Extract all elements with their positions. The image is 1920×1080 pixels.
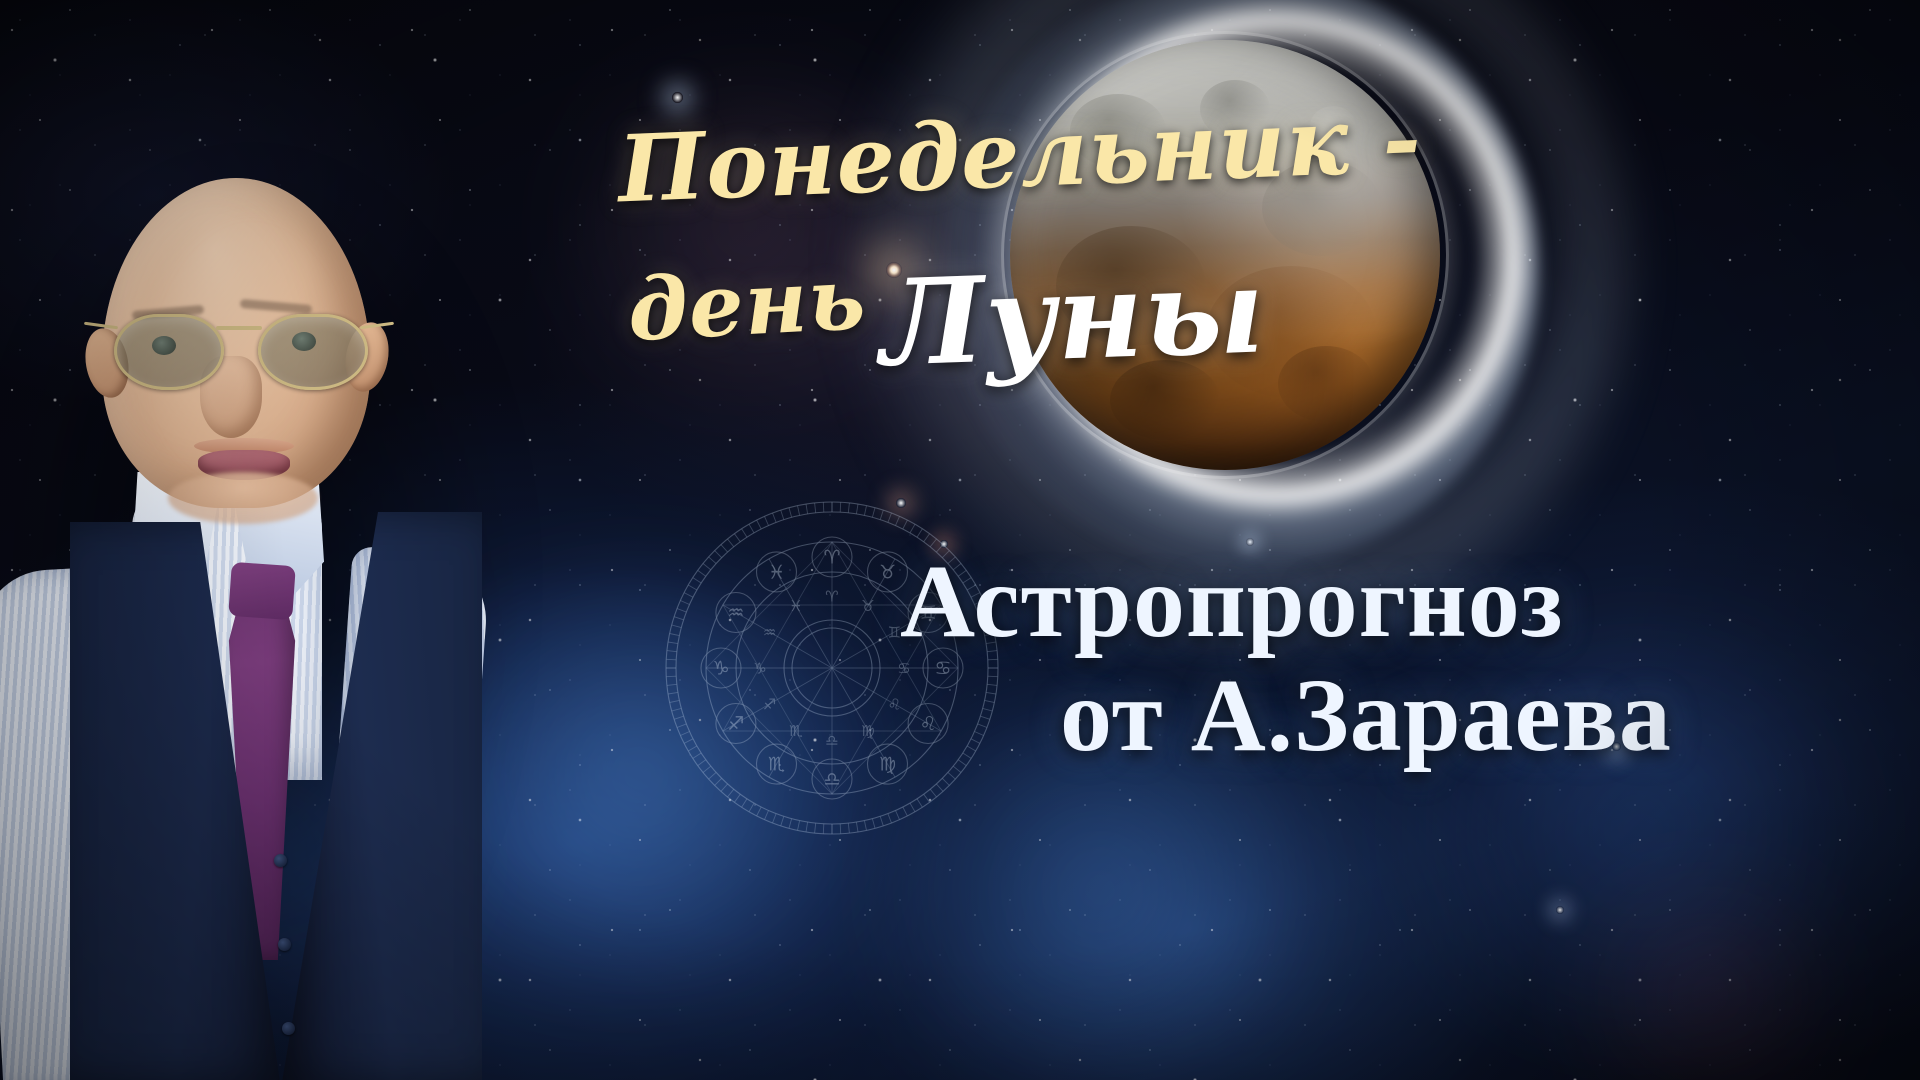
necktie-knot <box>228 562 296 620</box>
chin <box>168 472 318 524</box>
svg-text:♓: ♓ <box>768 561 785 583</box>
eye-right <box>292 332 316 351</box>
svg-text:♑: ♑ <box>753 660 766 678</box>
svg-text:♐: ♐ <box>727 713 744 735</box>
headline-line-2: день <box>626 256 868 354</box>
eyeglass-bridge <box>216 326 262 330</box>
subtitle-line-1: Астропрогноз <box>900 548 1564 656</box>
eye-left <box>152 336 176 355</box>
svg-text:♑: ♑ <box>712 658 729 680</box>
svg-text:♋: ♋ <box>897 660 910 678</box>
headline-line-1: Понедельник - <box>617 93 1424 216</box>
svg-text:♎: ♎ <box>825 732 838 750</box>
subtitle-line-2: от А.Зараева <box>1060 662 1672 770</box>
eyeglasses-icon <box>110 306 366 392</box>
vest-button <box>282 1022 295 1035</box>
eyeglass-lens-right <box>258 314 368 390</box>
svg-text:♈: ♈ <box>825 588 838 606</box>
svg-text:♌: ♌ <box>920 713 937 735</box>
bright-star <box>1556 906 1564 914</box>
svg-text:♒: ♒ <box>763 624 776 642</box>
svg-text:♎: ♎ <box>823 769 840 791</box>
svg-text:♒: ♒ <box>727 602 744 624</box>
svg-text:♓: ♓ <box>789 597 802 615</box>
svg-text:♉: ♉ <box>861 597 874 615</box>
svg-text:♈: ♈ <box>823 547 840 569</box>
bright-star <box>672 92 683 103</box>
svg-text:♋: ♋ <box>934 658 951 680</box>
svg-text:♌: ♌ <box>888 696 901 714</box>
presenter-portrait <box>0 150 522 1080</box>
vest-button <box>278 938 291 951</box>
svg-text:♍: ♍ <box>879 754 896 776</box>
thumbnail-canvas: ♈♉♊♋♌♍♎♏♐♑♒♓ ♈♉♊♋♌♍♎♏♐♑♒♓ <box>0 0 1920 1080</box>
svg-text:♐: ♐ <box>763 696 776 714</box>
headline-highlight-moon: Луны <box>878 251 1267 382</box>
svg-text:♏: ♏ <box>789 722 803 740</box>
svg-text:♍: ♍ <box>861 722 874 740</box>
vest-button <box>274 854 287 867</box>
svg-text:♉: ♉ <box>879 561 896 583</box>
svg-text:♏: ♏ <box>768 754 785 776</box>
